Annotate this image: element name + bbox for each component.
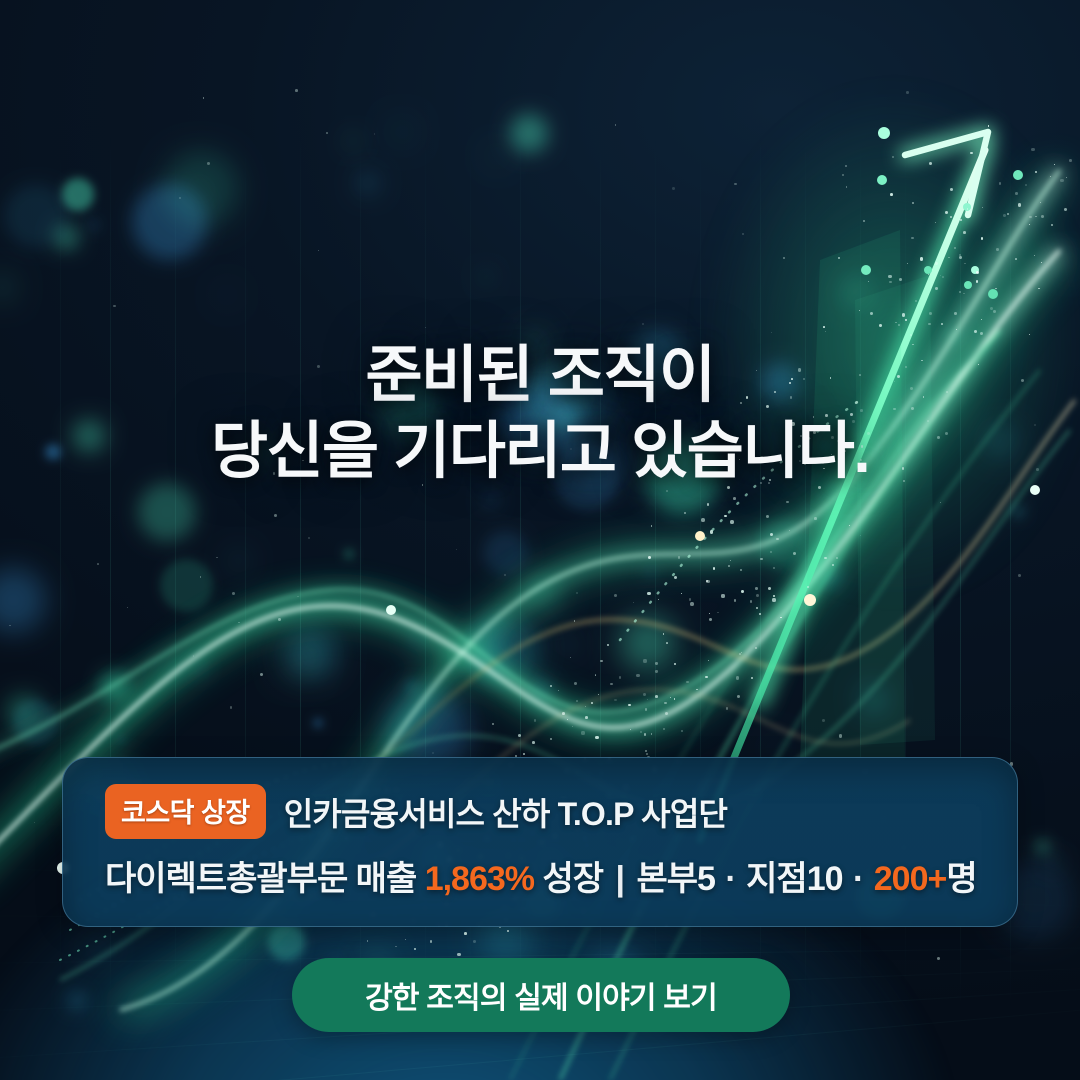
org-name: 인카금융서비스 산하 T.O.P 사업단 [284, 789, 727, 835]
stats-line: 다이렉트총괄부문 매출 1,863% 성장 | 본부5 · 지점10 · 200… [105, 851, 977, 900]
cta-button[interactable]: 강한 조직의 실제 이야기 보기 [292, 958, 790, 1032]
growth-suffix: 성장 [534, 860, 603, 898]
page-title: 준비된 조직이 당신을 기다리고 있습니다. [0, 338, 1080, 490]
branch-count: 지점10 [746, 860, 842, 898]
growth-value: 1,863% [425, 860, 534, 898]
hq-count: 본부5 [636, 860, 714, 898]
stats-dot-2: · [843, 860, 874, 898]
info-card-row-org: 코스닥 상장 인카금융서비스 산하 T.O.P 사업단 [105, 784, 975, 839]
stats-dot-1: · [715, 860, 746, 898]
promo-banner: 준비된 조직이 당신을 기다리고 있습니다. 코스닥 상장 인카금융서비스 산하… [0, 0, 1080, 1080]
stats-prefix: 다이렉트총괄부문 매출 [105, 860, 425, 898]
headcount-value: 200+ [874, 860, 947, 898]
headcount-unit: 명 [946, 860, 976, 898]
info-card-row-stats: 다이렉트총괄부문 매출 1,863% 성장 | 본부5 · 지점10 · 200… [105, 851, 975, 900]
headline-line-1: 준비된 조직이 [0, 338, 1080, 414]
stats-separator: | [603, 860, 636, 898]
info-card: 코스닥 상장 인카금융서비스 산하 T.O.P 사업단 다이렉트총괄부문 매출 … [62, 757, 1018, 927]
status-badge: 코스닥 상장 [105, 784, 266, 839]
headline-line-2: 당신을 기다리고 있습니다. [0, 414, 1080, 490]
